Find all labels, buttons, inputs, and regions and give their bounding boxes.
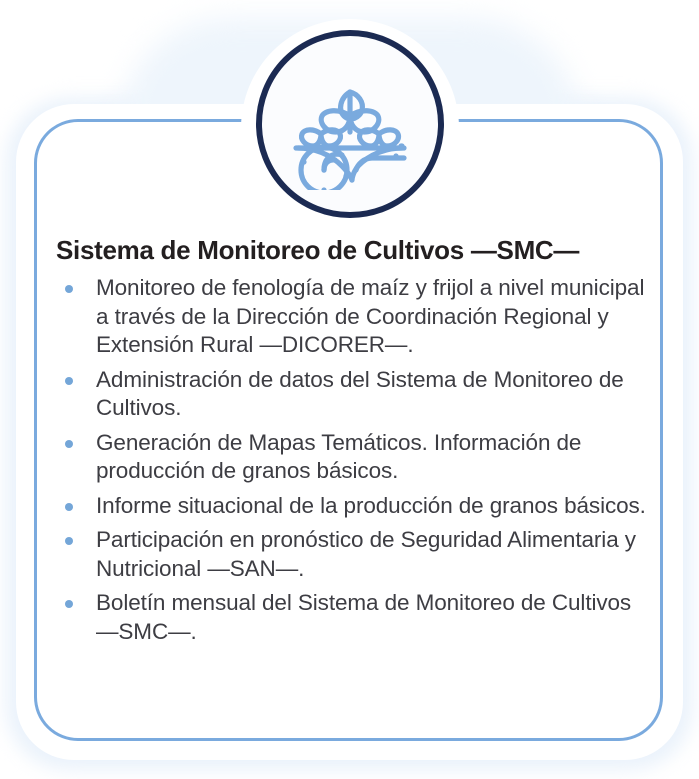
bullet-dot-icon [65, 377, 73, 385]
list-item: Informe situacional de la producción de … [56, 492, 650, 521]
list-item-text: Boletín mensual del Sistema de Monitoreo… [96, 590, 631, 644]
list-item-text: Informe situacional de la producción de … [96, 493, 646, 518]
list-item-text: Administración de datos del Sistema de M… [96, 367, 624, 421]
list-item: Boletín mensual del Sistema de Monitoreo… [56, 589, 650, 646]
bullet-dot-icon [65, 600, 73, 608]
list-item: Monitoreo de fenología de maíz y frijol … [56, 274, 650, 360]
card-content: Sistema de Monitoreo de Cultivos —SMC— M… [56, 234, 650, 652]
bullet-dot-icon [65, 503, 73, 511]
info-card-page: Sistema de Monitoreo de Cultivos —SMC— M… [0, 0, 699, 779]
list-item-text: Participación en pronóstico de Seguridad… [96, 527, 636, 581]
list-item-text: Monitoreo de fenología de maíz y frijol … [96, 275, 644, 357]
list-item: Generación de Mapas Temáticos. Informaci… [56, 429, 650, 486]
list-item: Administración de datos del Sistema de M… [56, 366, 650, 423]
bullet-dot-icon [65, 440, 73, 448]
bullet-dot-icon [65, 285, 73, 293]
list-item-text: Generación de Mapas Temáticos. Informaci… [96, 430, 581, 484]
page-title: Sistema de Monitoreo de Cultivos —SMC— [56, 234, 650, 266]
feature-bullet-list: Monitoreo de fenología de maíz y frijol … [56, 274, 650, 646]
bullet-dot-icon [65, 537, 73, 545]
list-item: Participación en pronóstico de Seguridad… [56, 526, 650, 583]
crop-monitoring-plant-icon [284, 58, 416, 190]
